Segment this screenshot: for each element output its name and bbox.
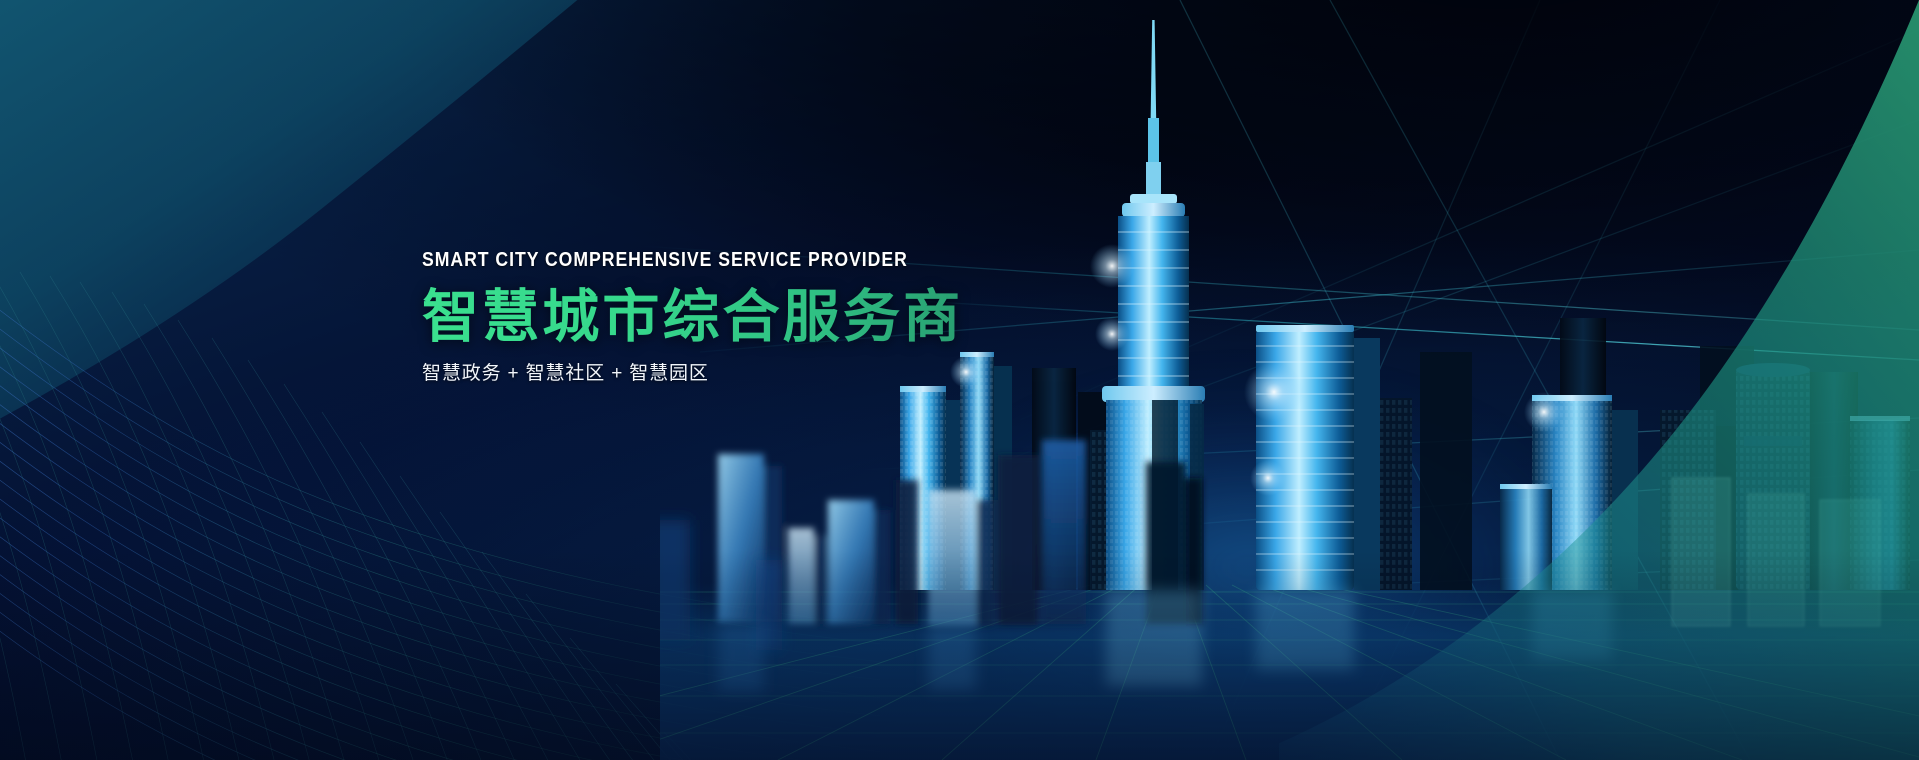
hero-subline: 智慧政务 + 智慧社区 + 智慧园区 (422, 364, 1182, 383)
hero-headline: 智慧城市综合服务商 (422, 287, 1182, 349)
smart-city-hero-banner: SMART CITY COMPREHENSIVE SERVICE PROVIDE… (0, 0, 1919, 760)
hero-copy-block: SMART CITY COMPREHENSIVE SERVICE PROVIDE… (422, 250, 1182, 383)
hero-eyebrow: SMART CITY COMPREHENSIVE SERVICE PROVIDE… (422, 250, 1076, 271)
green-corner-overlay (1279, 0, 1919, 760)
